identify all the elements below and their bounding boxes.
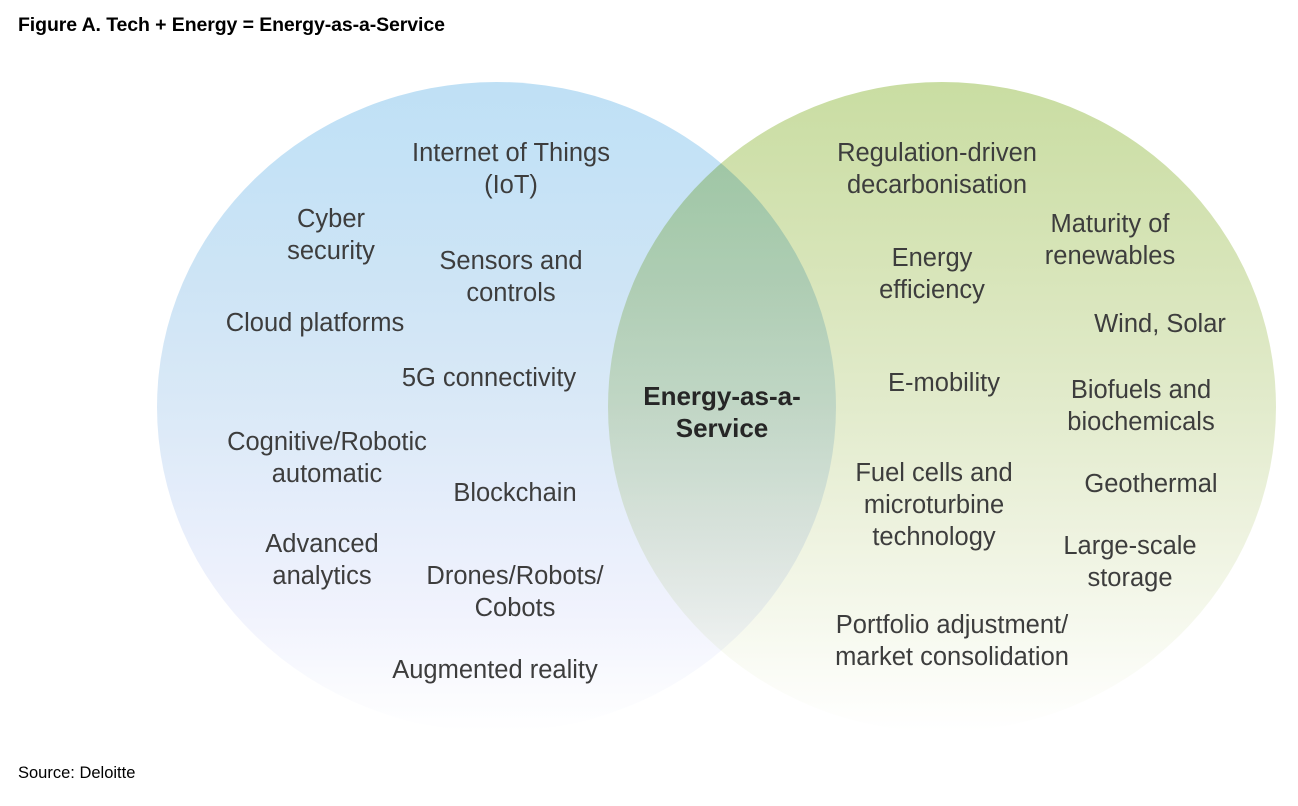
venn-right-item-wind-solar: Wind, Solar	[1056, 309, 1264, 341]
venn-intersection-label: Energy-as-a- Service	[622, 381, 822, 444]
venn-left-item-blockchain: Blockchain	[422, 478, 608, 510]
venn-right-item-portfolio-adjustment-market-consolidation: Portfolio adjustment/ market consolidati…	[802, 610, 1102, 674]
venn-left-item-cloud-platforms: Cloud platforms	[195, 308, 435, 340]
venn-left-item-internet-of-things: Internet of Things (IoT)	[386, 138, 636, 202]
venn-right-item-geothermal: Geothermal	[1062, 469, 1240, 501]
venn-left-item-5g-connectivity: 5G connectivity	[367, 363, 611, 395]
venn-right-item-fuel-cells-and-microturbine-technology: Fuel cells and microturbine technology	[834, 458, 1034, 554]
venn-left-item-cyber-security: Cyber security	[243, 204, 419, 268]
venn-diagram: Internet of Things (IoT) Cyber security …	[0, 0, 1298, 806]
venn-right-item-e-mobility: E-mobility	[854, 368, 1034, 400]
venn-right-item-maturity-of-renewables: Maturity of renewables	[1012, 209, 1208, 273]
venn-right-item-regulation-driven-decarbonisation: Regulation-driven decarbonisation	[810, 138, 1064, 202]
venn-left-item-augmented-reality: Augmented reality	[368, 655, 622, 687]
venn-labels-layer: Internet of Things (IoT) Cyber security …	[0, 0, 1298, 806]
venn-left-item-advanced-analytics: Advanced analytics	[229, 529, 415, 593]
venn-right-item-biofuels-and-biochemicals: Biofuels and biochemicals	[1046, 375, 1236, 439]
venn-left-item-cognitive-robotic-automatic: Cognitive/Robotic automatic	[196, 427, 458, 491]
venn-right-item-large-scale-storage: Large-scale storage	[1040, 531, 1220, 595]
venn-left-item-drones-robots-cobots: Drones/Robots/ Cobots	[396, 561, 634, 625]
venn-left-item-sensors-and-controls: Sensors and controls	[408, 246, 614, 310]
page-title: Figure A. Tech + Energy = Energy-as-a-Se…	[18, 14, 445, 37]
venn-right-item-energy-efficiency: Energy efficiency	[852, 243, 1012, 307]
source-note: Source: Deloitte	[18, 764, 135, 783]
